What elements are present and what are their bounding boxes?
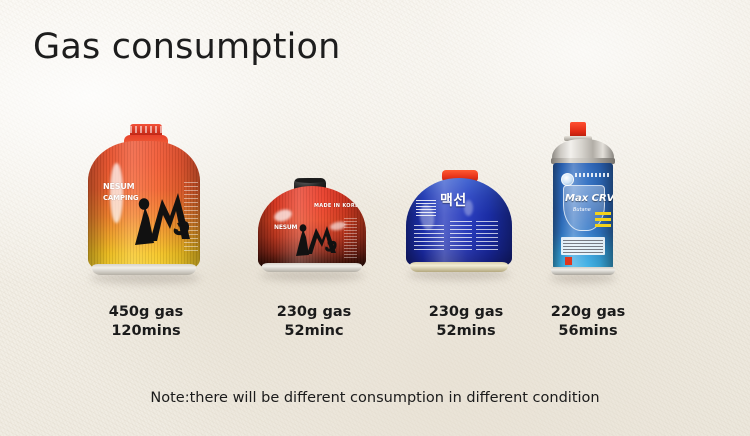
spec-weight: 450g gas xyxy=(84,303,208,322)
gas-consumption-infographic: Gas consumption NESUM CAMPING xyxy=(0,0,750,436)
canister-text-block-left xyxy=(416,200,436,216)
gas-canister-220g-butane: Max CRV Butane xyxy=(548,122,622,284)
canister-side-text-lines xyxy=(344,216,357,258)
canister-cap-top xyxy=(295,178,325,183)
mountain-logo-icon xyxy=(132,185,194,249)
canister-sub-text: Butane xyxy=(573,207,591,213)
spec-weight: 230g gas xyxy=(252,303,376,322)
spec-label-230g-red: 230g gas 52minc xyxy=(252,303,376,341)
gas-canister-450g: NESUM CAMPING xyxy=(84,124,204,284)
warning-mark-icon xyxy=(565,257,572,265)
canister-base-ring xyxy=(410,262,508,272)
canister-brand-text: 맥선 xyxy=(440,194,467,209)
gas-canister-230g-red: MADE IN KOREA NESUM xyxy=(258,178,366,284)
cap-notches xyxy=(130,126,162,133)
canister-body: MADE IN KOREA NESUM xyxy=(258,186,366,268)
spec-duration: 52mins xyxy=(404,322,528,341)
canister-base-ring xyxy=(92,264,196,275)
canister-base-ring xyxy=(262,263,362,272)
made-in-text: MADE IN KOREA xyxy=(314,204,363,209)
canister-body: 맥선 xyxy=(406,178,512,266)
spec-duration: 56mins xyxy=(526,322,650,341)
spec-label-450g: 450g gas 120mins xyxy=(84,303,208,341)
canister-text-block-right xyxy=(476,218,498,250)
spec-weight: 220g gas xyxy=(526,303,650,322)
spec-duration: 52minc xyxy=(252,322,376,341)
canister-yellow-bars xyxy=(595,211,611,227)
gas-canister-230g-blue: 맥선 xyxy=(406,170,512,284)
mountain-logo-icon xyxy=(294,222,342,258)
canister-brand-text: NESUM xyxy=(103,183,134,191)
page-title: Gas consumption xyxy=(33,27,341,67)
canister-brand-text: Max CRV xyxy=(565,193,613,204)
footer-note: Note:there will be different consumption… xyxy=(0,390,750,406)
spec-duration: 120mins xyxy=(84,322,208,341)
spec-label-220g: 220g gas 56mins xyxy=(526,303,650,341)
canister-base-ring xyxy=(551,267,615,275)
canister-body: NESUM CAMPING xyxy=(88,141,200,269)
canister-top-text-lines xyxy=(575,173,609,177)
spec-weight: 230g gas xyxy=(404,303,528,322)
canister-info-panel-lines xyxy=(563,239,603,253)
canister-text-block-center xyxy=(450,220,472,250)
spec-label-230g-blue: 230g gas 52mins xyxy=(404,303,528,341)
canister-body: Max CRV Butane xyxy=(553,163,613,269)
spec-label-row: 450g gas 120mins 230g gas 52minc 230g ga… xyxy=(0,303,750,348)
canister-highlight xyxy=(110,163,123,223)
canister-text-block-lower-left xyxy=(414,222,444,250)
